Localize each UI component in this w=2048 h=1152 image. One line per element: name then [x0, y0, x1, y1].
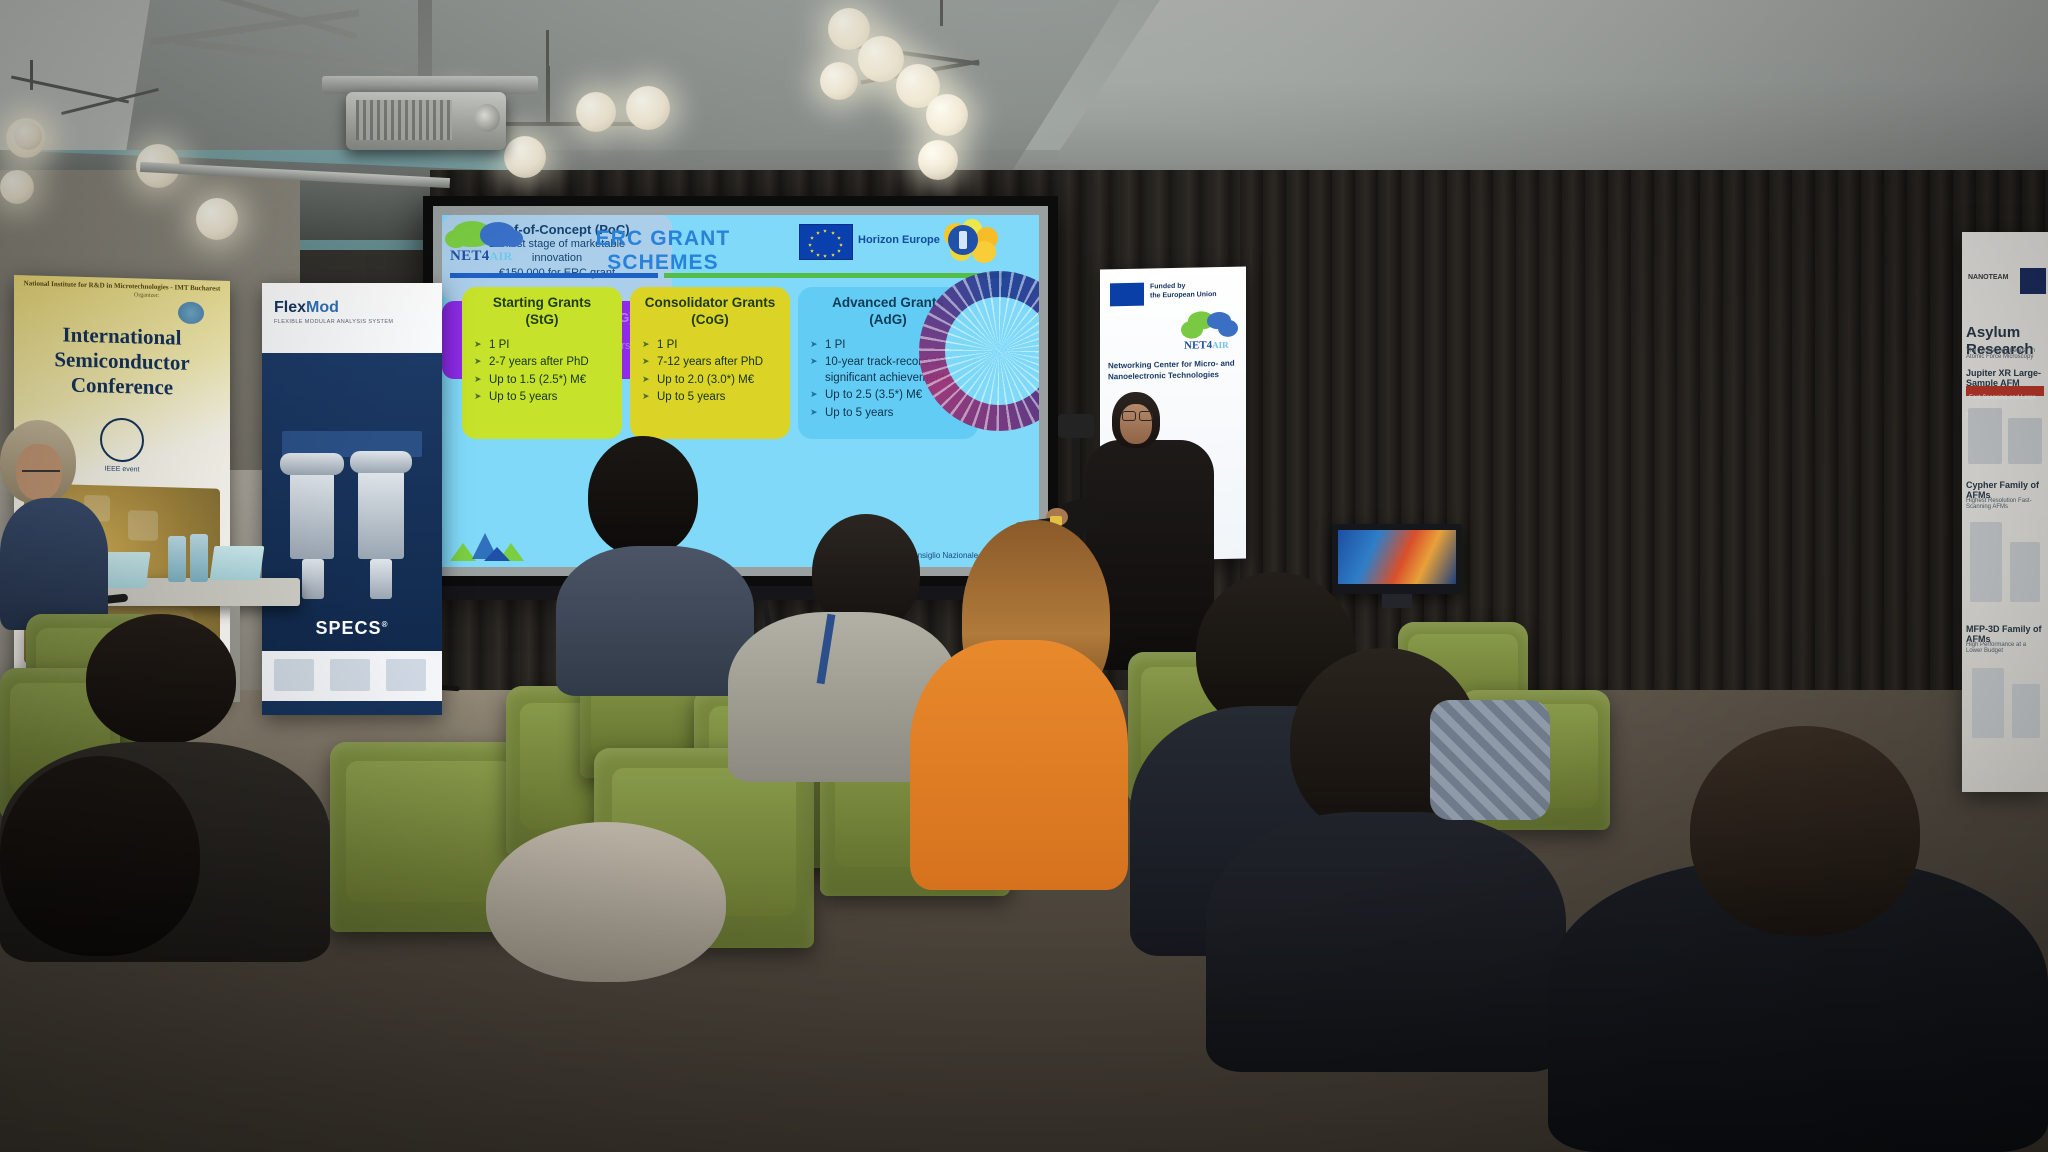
banner-asylum-product-2-tag: Highest Resolution Fast-Scanning AFMs: [1966, 498, 2044, 510]
light-globe: [196, 198, 238, 240]
eu-stars: [800, 225, 852, 259]
banner-asylum-product-1-tag: Fast Scanning and Large Scan Range: [1966, 386, 2044, 396]
net4air-wordmark: NET4AIR: [1184, 339, 1229, 352]
banner-asylum-research: NANOTEAM Asylum Research The Technology …: [1962, 232, 2048, 792]
banner-asylum-product-1: Jupiter XR Large-Sample AFM: [1966, 368, 2048, 388]
grant-bullet: 1 PI: [474, 338, 616, 354]
oxford-instruments-logo: [2020, 268, 2046, 294]
slide-decoration-graphic: [919, 261, 1039, 511]
decoration-spokes: [919, 271, 1039, 431]
net4air-wordmark: NET4AIR: [450, 248, 512, 265]
glasses-icon: [22, 470, 60, 481]
projector-mount-pole: [418, 0, 432, 80]
slide-triangle-decoration: [450, 529, 540, 563]
attendee-body: [1206, 812, 1566, 1072]
attendee-body: [556, 546, 754, 696]
net4air-logo: NET4AIR: [450, 221, 522, 273]
attendee-head: [1690, 726, 1920, 936]
screen-bezel: NET4AIR ERC GRANT SCHEMES: [433, 206, 1048, 576]
banner-net4air-tagline: Networking Center for Micro- and Nanoele…: [1108, 359, 1238, 383]
banner-asylum-product-3-tag: High Performance at a Lower Budget: [1966, 642, 2044, 654]
banner-asylum-product-3: MFP-3D Family of AFMs: [1966, 624, 2048, 644]
monitor-stand: [1382, 594, 1412, 608]
light-globe: [820, 62, 858, 100]
grant-bullet: Up to 2.0 (3.0*) M€: [642, 373, 784, 389]
banner-asylum-product-2: Cypher Family of AFMs: [1966, 480, 2048, 500]
monitor-screen: [1338, 530, 1456, 584]
grant-bullet: Up to 1.5 (2.5*) M€: [474, 373, 616, 389]
presenter-face: [1120, 404, 1152, 444]
grant-bullet-list: 1 PI 2-7 years after PhD Up to 1.5 (2.5*…: [468, 338, 616, 406]
nanoteam-logo: NANOTEAM: [1968, 274, 2008, 281]
light-globe: [0, 170, 34, 204]
light-globe: [926, 94, 968, 136]
banner-flexmod-photo-panel: [262, 353, 442, 653]
attendee-head: [0, 756, 200, 956]
cloud-blue-icon: [480, 222, 516, 247]
projector-vents: [356, 100, 452, 140]
attendee-head: [86, 614, 236, 744]
mic-stand-head: [1058, 414, 1094, 438]
light-globe: [576, 92, 616, 132]
banner-isc-title: International Semiconductor Conference: [14, 321, 230, 401]
attendee-body: [910, 640, 1128, 890]
grant-box-heading: Starting Grants (StG): [468, 295, 616, 329]
grant-bullet: 2-7 years after PhD: [474, 355, 616, 371]
banner-isc-org-logo-icon: [178, 302, 204, 325]
attendee-shirt-check: [1430, 700, 1550, 820]
attendee-head: [588, 436, 698, 556]
glasses-icon: [1122, 411, 1152, 419]
attendee-body: [0, 498, 108, 630]
projector-lens-icon: [474, 104, 500, 132]
banner-specs-wordmark: SPECS®: [262, 618, 442, 639]
water-bottle: [190, 534, 208, 582]
laptop: [210, 546, 265, 580]
conference-room-scene: NET4AIR ERC GRANT SCHEMES: [0, 0, 2048, 1152]
grant-box-starting: Starting Grants (StG) 1 PI 2-7 years aft…: [462, 287, 622, 439]
light-globe: [626, 86, 670, 130]
eu-flag-icon: [799, 224, 853, 260]
eu-flag-icon: [1110, 283, 1144, 307]
banner-flexmod-footer-strip: [262, 651, 442, 701]
horizon-europe-label: Horizon Europe: [858, 234, 940, 246]
attendee-head: [486, 822, 726, 982]
light-globe: [504, 136, 546, 178]
banner-isc-emblem-icon: [100, 417, 144, 462]
banner-flexmod-specs: FlexMod FLEXIBLE MODULAR ANALYSIS SYSTEM…: [262, 283, 442, 715]
light-globe: [14, 122, 42, 150]
grant-box-heading: Consolidator Grants (CoG): [636, 295, 784, 329]
presentation-slide: NET4AIR ERC GRANT SCHEMES: [442, 215, 1039, 567]
banner-isc-top-line: National Institute for R&D in Microtechn…: [14, 279, 230, 293]
banner-asylum-subtitle: The Technology Leader in Atomic Force Mi…: [1966, 348, 2048, 360]
grant-bullet: Up to 5 years: [642, 390, 784, 406]
banner-flexmod-subtitle: FLEXIBLE MODULAR ANALYSIS SYSTEM: [274, 319, 393, 325]
grant-bullet-list: 1 PI 7-12 years after PhD Up to 2.0 (3.0…: [636, 338, 784, 406]
banner-funded-by-text: Funded by the European Union: [1150, 281, 1217, 301]
grant-bullet: Up to 5 years: [474, 390, 616, 406]
banner-isc-organizer-label: Organizer:: [134, 292, 160, 299]
light-globe: [858, 36, 904, 82]
header-rule-blue: [450, 273, 658, 278]
grant-bullet: 1 PI: [642, 338, 784, 354]
grant-box-consolidator: Consolidator Grants (CoG) 1 PI 7-12 year…: [630, 287, 790, 439]
pendant-light-cluster-right: [800, 0, 1010, 190]
slide-title: ERC GRANT SCHEMES: [538, 227, 788, 275]
water-bottle: [168, 536, 186, 582]
light-globe: [918, 140, 958, 180]
projection-screen: NET4AIR ERC GRANT SCHEMES: [423, 196, 1058, 586]
grant-bullet: 7-12 years after PhD: [642, 355, 784, 371]
banner-flexmod-title: FlexMod: [274, 299, 339, 317]
horizon-europe-emblem-icon: [942, 219, 1004, 265]
